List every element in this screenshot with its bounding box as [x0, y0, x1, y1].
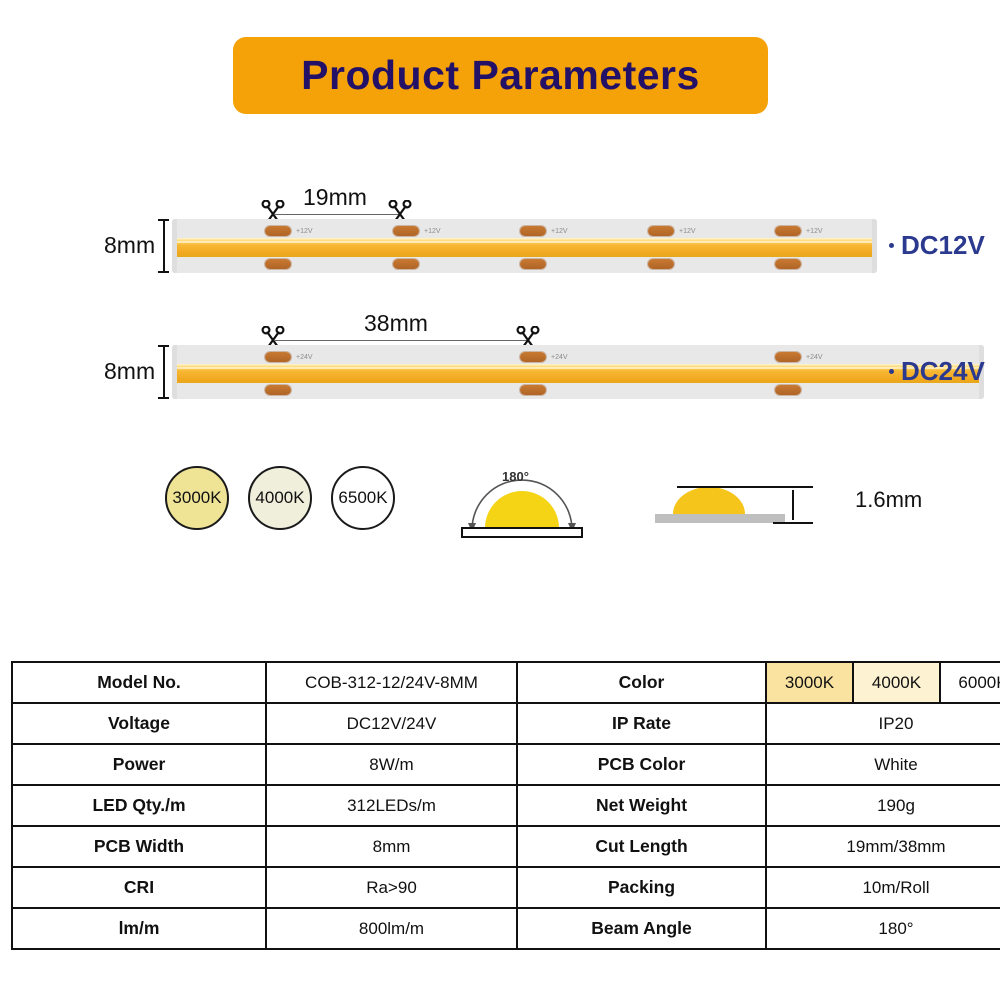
thickness-diagram [655, 462, 835, 542]
cut-dimension-line-12v [275, 214, 400, 215]
spec-key: IP Rate [517, 703, 766, 744]
cut-length-label-24v: 38mm [364, 310, 428, 337]
cct-circle-6500k: 6500K [331, 466, 395, 530]
table-row: LED Qty./m 312LEDs/m Net Weight 190g [12, 785, 1000, 826]
table-row: Model No. COB-312-12/24V-8MM Color 3000K… [12, 662, 1000, 703]
voltage-label-dc12v: DC12V [901, 230, 985, 261]
spec-value: Ra>90 [266, 867, 517, 908]
spec-key: Beam Angle [517, 908, 766, 949]
spec-value: 19mm/38mm [766, 826, 1000, 867]
spec-value: IP20 [766, 703, 1000, 744]
height-bracket-12v [158, 219, 169, 273]
cct-circle-3000k: 3000K [165, 466, 229, 530]
cct-circle-label: 6500K [338, 488, 387, 508]
spec-key: Voltage [12, 703, 266, 744]
height-bracket-24v [158, 345, 169, 399]
table-row: PCB Width 8mm Cut Length 19mm/38mm [12, 826, 1000, 867]
table-row: Voltage DC12V/24V IP Rate IP20 [12, 703, 1000, 744]
spec-key: Net Weight [517, 785, 766, 826]
spec-value-cct-6000k: 6000K [940, 662, 1000, 703]
spec-key: PCB Width [12, 826, 266, 867]
cut-dimension-line-24v [275, 340, 528, 341]
spec-value: DC12V/24V [266, 703, 517, 744]
title-banner: Product Parameters [233, 37, 768, 114]
spec-key: Color [517, 662, 766, 703]
spec-key: lm/m [12, 908, 266, 949]
beam-angle-diagram: 180° [452, 460, 592, 542]
specification-table: Model No. COB-312-12/24V-8MM Color 3000K… [11, 661, 1000, 950]
voltage-label-dc24v: DC24V [901, 356, 985, 387]
cct-circle-4000k: 4000K [248, 466, 312, 530]
pad-voltage-label: +12V [296, 228, 313, 235]
beam-angle-label: 180° [502, 469, 529, 484]
thickness-label: 1.6mm [855, 487, 922, 513]
cct-circle-label: 3000K [172, 488, 221, 508]
spec-value: 180° [766, 908, 1000, 949]
spec-value: 8W/m [266, 744, 517, 785]
spec-key: Power [12, 744, 266, 785]
bullet-icon-12v [889, 243, 894, 248]
spec-key: Cut Length [517, 826, 766, 867]
pad-voltage-label: +12V [551, 228, 568, 235]
cct-circle-label: 4000K [255, 488, 304, 508]
cut-length-label-12v: 19mm [303, 184, 367, 211]
spec-value: 10m/Roll [766, 867, 1000, 908]
bullet-icon-24v [889, 369, 894, 374]
spec-key: Packing [517, 867, 766, 908]
spec-value: 312LEDs/m [266, 785, 517, 826]
page-title: Product Parameters [301, 52, 700, 99]
spec-key: PCB Color [517, 744, 766, 785]
spec-value: White [766, 744, 1000, 785]
spec-value: 800lm/m [266, 908, 517, 949]
spec-value-cct-3000k: 3000K [766, 662, 853, 703]
spec-value: 8mm [266, 826, 517, 867]
pad-voltage-label: +12V [806, 228, 823, 235]
pad-voltage-label: +24V [806, 354, 823, 361]
pad-voltage-label: +24V [296, 354, 313, 361]
spec-value: COB-312-12/24V-8MM [266, 662, 517, 703]
spec-value-cct-4000k: 4000K [853, 662, 940, 703]
led-strip-body-12v: +12V +12V +12V +12V +12V [172, 219, 877, 273]
spec-value: 190g [766, 785, 1000, 826]
spec-key: LED Qty./m [12, 785, 266, 826]
spec-key: CRI [12, 867, 266, 908]
table-row: CRI Ra>90 Packing 10m/Roll [12, 867, 1000, 908]
pad-voltage-label: +12V [679, 228, 696, 235]
strip-height-label-12v: 8mm [104, 232, 155, 259]
table-row: lm/m 800lm/m Beam Angle 180° [12, 908, 1000, 949]
pad-voltage-label: +12V [424, 228, 441, 235]
pad-voltage-label: +24V [551, 354, 568, 361]
led-strip-body-24v: +24V +24V +24V [172, 345, 984, 399]
strip-height-label-24v: 8mm [104, 358, 155, 385]
spec-key: Model No. [12, 662, 266, 703]
table-row: Power 8W/m PCB Color White [12, 744, 1000, 785]
